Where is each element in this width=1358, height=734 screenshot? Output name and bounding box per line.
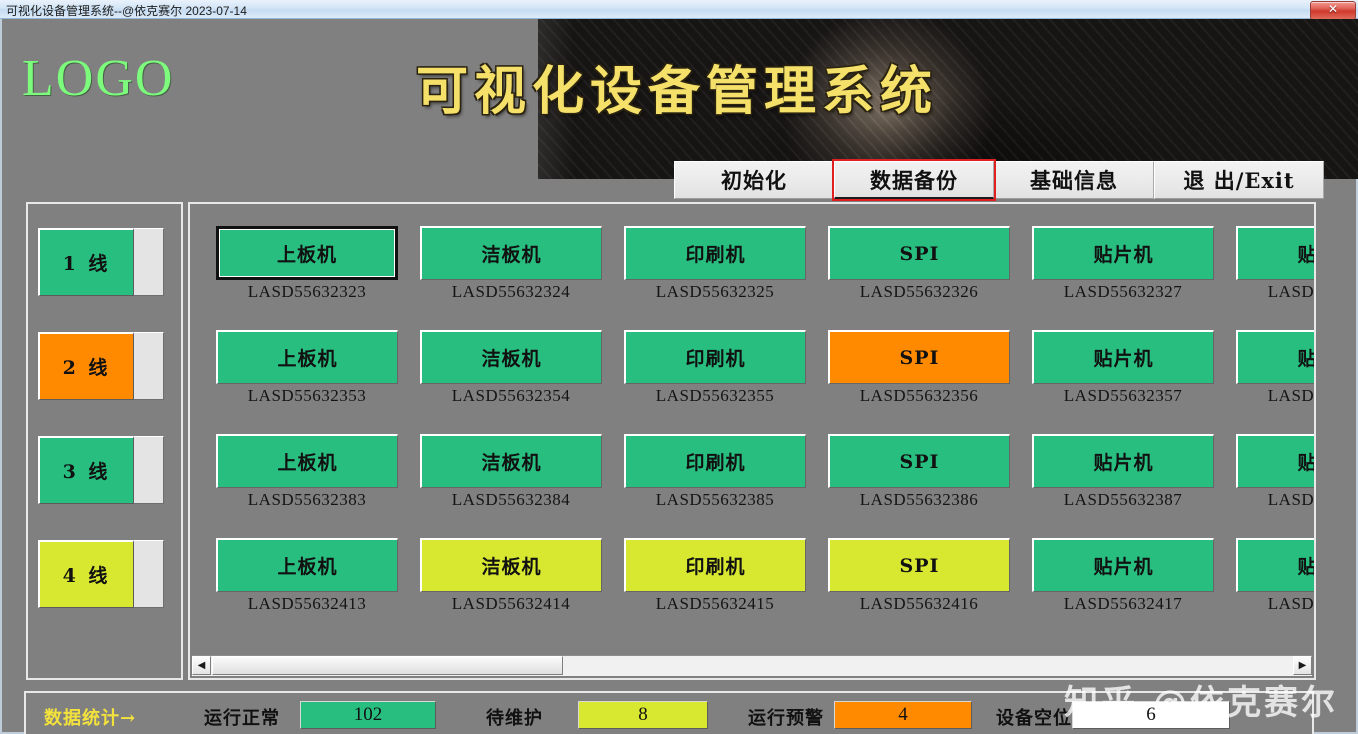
scroll-left-arrow-icon[interactable]: ◀ [192,656,211,675]
line-status-tag-3 [134,436,164,504]
stat-value-text: 6 [1146,704,1156,726]
equipment-button[interactable]: 洁板机 [420,538,602,592]
status-bar: 数据统计→运行正常102待维护8运行预警4设备空位6 [24,691,1314,734]
equipment-code: LASD55632384 [420,490,602,510]
status-title: 数据统计→ [44,704,136,730]
horizontal-scrollbar[interactable]: ◀ ▶ [192,655,1312,676]
equipment-code: LASD55632323 [216,282,398,302]
equipment-button[interactable]: SPI [828,434,1010,488]
equipment-name: 上板机 [277,344,337,371]
equipment-cell[interactable]: 贴片机LASD55632328 [1236,226,1314,302]
equipment-button[interactable]: 洁板机 [420,330,602,384]
equipment-cell[interactable]: 印刷机LASD55632325 [624,226,806,302]
equipment-name: 印刷机 [685,448,745,475]
stat-value-1: 8 [578,701,708,729]
line-button-4[interactable]: 4 线 [38,540,134,608]
page-title: 可视化设备管理系统 [416,49,938,124]
scroll-right-arrow-icon[interactable]: ▶ [1293,656,1312,675]
equipment-name: 贴片机 [1093,448,1153,475]
equipment-cell[interactable]: 洁板机LASD55632324 [420,226,602,302]
stat-value-3: 6 [1072,701,1230,729]
window-title-text: 可视化设备管理系统--@依克赛尔 2023-07-14 [6,2,247,19]
stat-value-text: 4 [898,704,908,726]
logo: LOGO [22,49,174,108]
equipment-code: LASD55632417 [1032,594,1214,614]
equipment-cell[interactable]: 印刷机LASD55632355 [624,330,806,406]
stat-value-2: 4 [834,701,972,729]
equipment-cell[interactable]: 贴片机LASD55632418 [1236,538,1314,614]
stat-label-1: 待维护 [486,704,543,730]
equipment-name: 贴片机 [1297,552,1314,579]
equipment-button[interactable]: SPI [828,226,1010,280]
equipment-button[interactable]: 印刷机 [624,434,806,488]
equipment-name: 贴片机 [1297,240,1314,267]
scrollbar-thumb[interactable] [212,656,563,675]
equipment-cell[interactable]: SPILASD55632386 [828,434,1010,510]
line-button-label: 4 线 [63,561,111,588]
stat-label-3: 设备空位 [996,704,1072,730]
menu-item-1[interactable]: 数据备份 [834,161,994,199]
menu-item-label: 数据备份 [870,165,958,195]
line-item-1[interactable]: 1 线 [38,228,166,296]
equipment-cell[interactable]: SPILASD55632416 [828,538,1010,614]
equipment-code: LASD55632385 [624,490,806,510]
equipment-button[interactable]: 贴片机 [1032,330,1214,384]
equipment-name: SPI [900,347,940,369]
equipment-button[interactable]: 贴片机 [1236,434,1314,488]
equipment-cell[interactable]: 贴片机LASD55632358 [1236,330,1314,406]
equipment-code: LASD55632383 [216,490,398,510]
equipment-code: LASD55632357 [1032,386,1214,406]
content-area: 1 线2 线3 线4 线 上板机LASD55632323洁板机LASD55632… [4,199,1358,689]
equipment-button[interactable]: 上板机 [216,434,398,488]
stat-value-0: 102 [300,701,436,729]
equipment-button[interactable]: 印刷机 [624,330,806,384]
equipment-code: LASD55632413 [216,594,398,614]
equipment-code: LASD55632415 [624,594,806,614]
close-icon-glyph: ✕ [1311,2,1355,19]
equipment-grid-panel: 上板机LASD55632323洁板机LASD55632324印刷机LASD556… [188,202,1316,680]
equipment-code: LASD55632327 [1032,282,1214,302]
equipment-button[interactable]: 上板机 [216,226,398,280]
menu-item-0[interactable]: 初始化 [674,161,834,199]
stat-value-text: 102 [354,704,383,726]
equipment-grid: 上板机LASD55632323洁板机LASD55632324印刷机LASD556… [190,204,1314,654]
equipment-code: LASD55632325 [624,282,806,302]
equipment-button[interactable]: 贴片机 [1032,538,1214,592]
equipment-cell[interactable]: SPILASD55632326 [828,226,1010,302]
line-button-label: 1 线 [63,249,111,276]
equipment-cell[interactable]: 洁板机LASD55632384 [420,434,602,510]
equipment-name: 印刷机 [685,240,745,267]
equipment-name: 贴片机 [1297,448,1314,475]
menu-item-label: 基础信息 [1030,165,1118,195]
line-status-tag-1 [134,228,164,296]
equipment-button[interactable]: 贴片机 [1032,226,1214,280]
equipment-name: SPI [900,451,940,473]
equipment-cell[interactable]: 贴片机LASD55632388 [1236,434,1314,510]
equipment-name: 上板机 [277,240,337,267]
line-button-2[interactable]: 2 线 [38,332,134,400]
equipment-cell[interactable]: 洁板机LASD55632414 [420,538,602,614]
line-item-2[interactable]: 2 线 [38,332,166,400]
menu-item-3[interactable]: 退 出/Exit [1154,161,1324,199]
equipment-code: LASD55632326 [828,282,1010,302]
equipment-name: 洁板机 [481,344,541,371]
equipment-name: 洁板机 [481,552,541,579]
equipment-cell[interactable]: 上板机LASD55632413 [216,538,398,614]
equipment-cell[interactable]: SPILASD55632356 [828,330,1010,406]
equipment-code: LASD55632387 [1032,490,1214,510]
line-item-4[interactable]: 4 线 [38,540,166,608]
line-status-tag-4 [134,540,164,608]
line-status-tag-2 [134,332,164,400]
equipment-button[interactable]: 上板机 [216,330,398,384]
equipment-cell[interactable]: 贴片机LASD55632357 [1032,330,1214,406]
line-button-label: 2 线 [63,353,111,380]
menu-item-2[interactable]: 基础信息 [994,161,1154,199]
equipment-button[interactable]: 洁板机 [420,434,602,488]
equipment-name: 贴片机 [1297,344,1314,371]
equipment-name: 贴片机 [1093,552,1153,579]
header-banner: LOGO 可视化设备管理系统 [4,19,1358,179]
menu-item-label: 初始化 [721,165,787,195]
equipment-button[interactable]: 洁板机 [420,226,602,280]
equipment-cell[interactable]: 贴片机LASD55632417 [1032,538,1214,614]
line-button-label: 3 线 [63,457,111,484]
equipment-cell[interactable]: 上板机LASD55632353 [216,330,398,406]
scroll-left-arrow-glyph: ◀ [198,661,206,671]
scroll-right-arrow-glyph: ▶ [1299,661,1307,671]
equipment-button[interactable]: 贴片机 [1032,434,1214,488]
equipment-name: 贴片机 [1093,344,1153,371]
equipment-code: LASD55632355 [624,386,806,406]
line-item-3[interactable]: 3 线 [38,436,166,504]
equipment-name: 贴片机 [1093,240,1153,267]
equipment-name: 上板机 [277,552,337,579]
equipment-button[interactable]: 贴片机 [1236,538,1314,592]
equipment-button[interactable]: 贴片机 [1236,330,1314,384]
equipment-button[interactable]: SPI [828,330,1010,384]
equipment-code: LASD55632416 [828,594,1010,614]
line-button-1[interactable]: 1 线 [38,228,134,296]
equipment-code: LASD55632386 [828,490,1010,510]
stat-value-text: 8 [638,704,648,726]
equipment-code: LASD55632356 [828,386,1010,406]
equipment-cell[interactable]: 上板机LASD55632323 [216,226,398,302]
application-window: 可视化设备管理系统--@依克赛尔 2023-07-14 ✕ LOGO 可视化设备… [0,0,1358,734]
window-title-bar: 可视化设备管理系统--@依克赛尔 2023-07-14 ✕ [0,0,1358,19]
equipment-name: 洁板机 [481,240,541,267]
equipment-code: LASD55632324 [420,282,602,302]
equipment-name: 上板机 [277,448,337,475]
main-frame: LOGO 可视化设备管理系统 初始化数据备份基础信息退 出/Exit 1 线2 … [0,19,1358,734]
equipment-cell[interactable]: 印刷机LASD55632415 [624,538,806,614]
equipment-name: 洁板机 [481,448,541,475]
equipment-code: LASD55632354 [420,386,602,406]
equipment-name: SPI [900,555,940,577]
equipment-button[interactable]: 贴片机 [1236,226,1314,280]
equipment-cell[interactable]: 贴片机LASD55632327 [1032,226,1214,302]
top-menu-bar: 初始化数据备份基础信息退 出/Exit [674,161,1324,199]
stat-label-0: 运行正常 [204,704,280,730]
line-button-3[interactable]: 3 线 [38,436,134,504]
equipment-code: LASD55632418 [1236,594,1314,614]
equipment-code: LASD55632353 [216,386,398,406]
equipment-button[interactable]: 上板机 [216,538,398,592]
equipment-name: SPI [900,243,940,265]
line-selector-panel: 1 线2 线3 线4 线 [26,202,183,680]
stat-label-2: 运行预警 [748,704,824,730]
close-icon[interactable]: ✕ [1310,1,1356,20]
equipment-name: 印刷机 [685,552,745,579]
equipment-code: LASD55632358 [1236,386,1314,406]
equipment-cell[interactable]: 上板机LASD55632383 [216,434,398,510]
equipment-code: LASD55632414 [420,594,602,614]
equipment-code: LASD55632388 [1236,490,1314,510]
equipment-cell[interactable]: 贴片机LASD55632387 [1032,434,1214,510]
equipment-code: LASD55632328 [1236,282,1314,302]
equipment-name: 印刷机 [685,344,745,371]
equipment-button[interactable]: 印刷机 [624,226,806,280]
equipment-button[interactable]: SPI [828,538,1010,592]
menu-item-label: 退 出/Exit [1183,165,1294,195]
equipment-cell[interactable]: 印刷机LASD55632385 [624,434,806,510]
equipment-cell[interactable]: 洁板机LASD55632354 [420,330,602,406]
equipment-button[interactable]: 印刷机 [624,538,806,592]
